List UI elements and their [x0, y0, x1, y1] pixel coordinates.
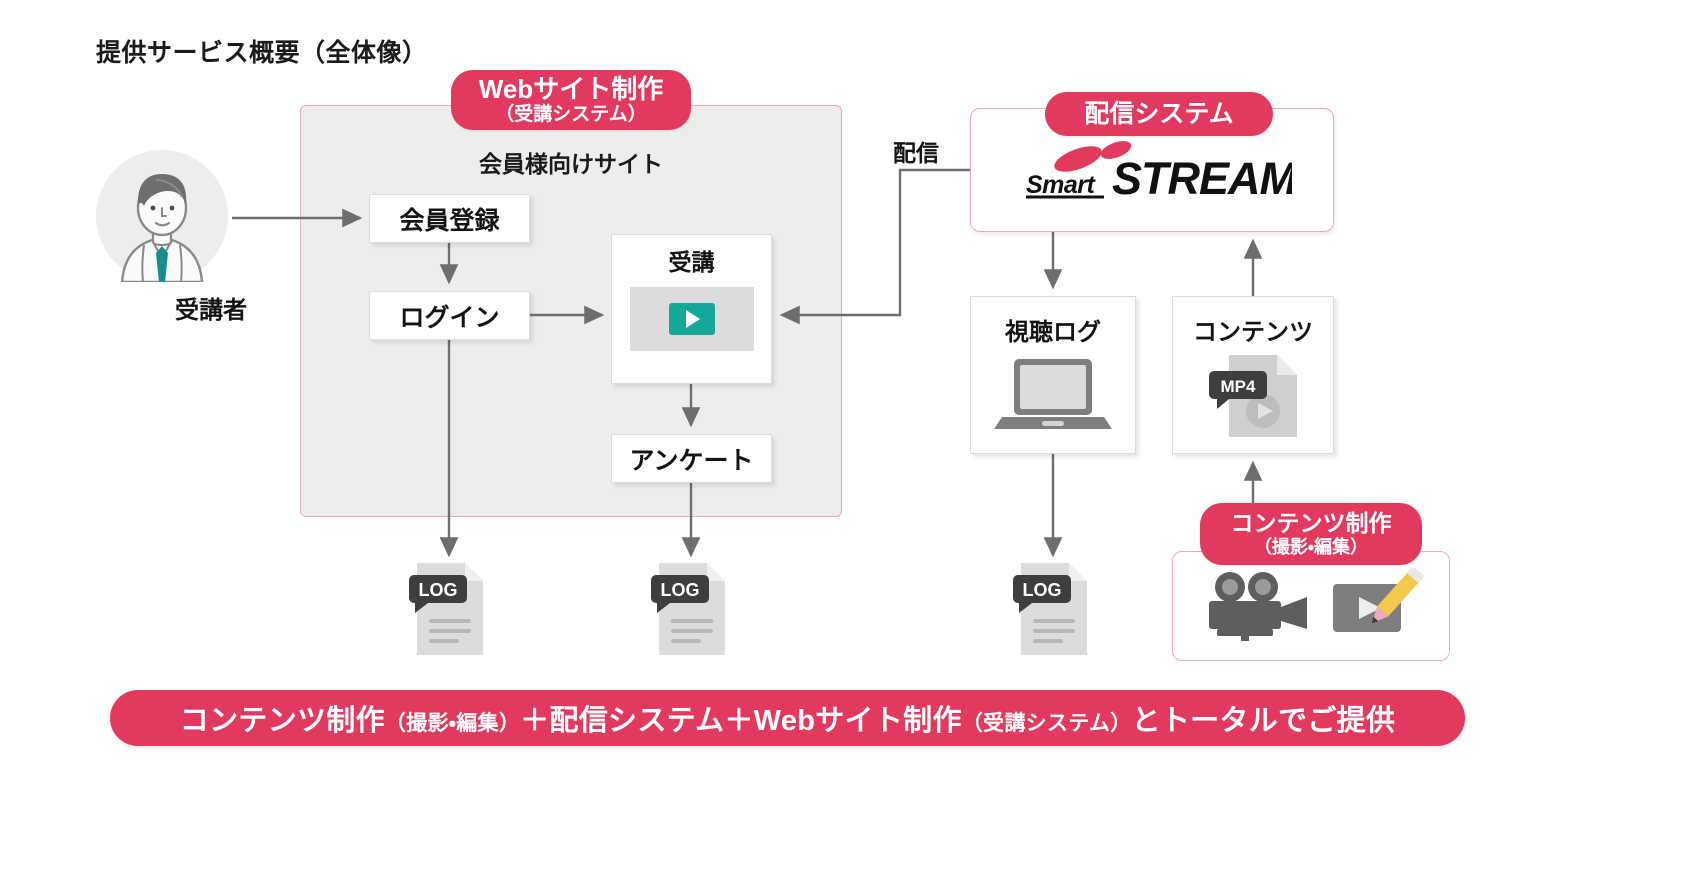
flow-box-member-register[interactable]: 会員登録: [369, 194, 530, 243]
study-title: 受講: [669, 251, 715, 274]
badge-delivery-system: 配信システム: [1045, 92, 1273, 136]
actor-label: 受講者: [96, 290, 326, 325]
video-edit-pencil-icon: [1329, 568, 1425, 644]
log-file-survey: LOG: [651, 561, 731, 657]
flow-box-study[interactable]: 受講: [611, 234, 772, 384]
movie-camera-icon: [1197, 571, 1313, 641]
content-title: コンテンツ: [1193, 312, 1313, 347]
badge-line1: コンテンツ制作: [1231, 511, 1392, 537]
log-file-register: LOG: [409, 561, 489, 657]
diagram-canvas: 提供サービス概要（全体像） 会員様向けサイト: [0, 0, 1696, 876]
log-file-viewlog: LOG: [1013, 561, 1093, 657]
badge-line2: （受講システム）: [495, 104, 646, 125]
log-label: LOG: [661, 580, 700, 600]
video-placeholder: [630, 287, 754, 351]
svg-text:STREAM: STREAM: [1112, 153, 1292, 201]
mp4-file-icon: MP4: [1201, 353, 1305, 439]
laptop-icon: [994, 353, 1112, 435]
log-label: LOG: [419, 580, 458, 600]
badge-line2: （撮影・編集）: [1254, 537, 1368, 557]
view-log-box: 視聴ログ: [970, 296, 1136, 454]
svg-text:Smart: Smart: [1026, 171, 1097, 199]
flow-box-login[interactable]: ログイン: [369, 291, 530, 340]
badge-content-production: コンテンツ制作 （撮影・編集）: [1200, 503, 1422, 565]
badge-line1: 配信システム: [1084, 100, 1233, 128]
content-production-panel: [1172, 551, 1450, 661]
banner-seg2: （撮影・編集）: [385, 712, 520, 735]
summary-banner: コンテンツ制作（撮影・編集）＋配信システム＋Webサイト制作（受講システム）とト…: [110, 690, 1465, 746]
badge-web-site-production: Webサイト制作 （受講システム）: [451, 70, 691, 130]
badge-line1: Webサイト制作: [479, 75, 663, 104]
person-avatar-icon: [96, 150, 228, 282]
banner-seg5: とトータルでご提供: [1132, 705, 1396, 737]
banner-text: コンテンツ制作（撮影・編集）＋配信システム＋Webサイト制作（受講システム）とト…: [180, 697, 1395, 739]
smart-stream-logo: Smart STREAM: [1012, 139, 1292, 201]
play-icon[interactable]: [669, 303, 715, 335]
file-type-label: MP4: [1221, 377, 1257, 396]
connector-label-delivery: 配信: [893, 134, 939, 168]
member-site-label: 会員様向けサイト: [300, 145, 842, 179]
banner-seg1: コンテンツ制作: [180, 705, 385, 737]
content-box: コンテンツ MP4: [1172, 296, 1334, 454]
flow-box-survey[interactable]: アンケート: [611, 434, 772, 483]
banner-seg3: ＋配信システム＋Webサイト制作: [520, 705, 962, 737]
log-label: LOG: [1023, 580, 1062, 600]
page-title: 提供サービス概要（全体像）: [96, 33, 428, 69]
view-log-title: 視聴ログ: [1005, 312, 1101, 347]
banner-seg4: （受講システム）: [962, 712, 1132, 735]
